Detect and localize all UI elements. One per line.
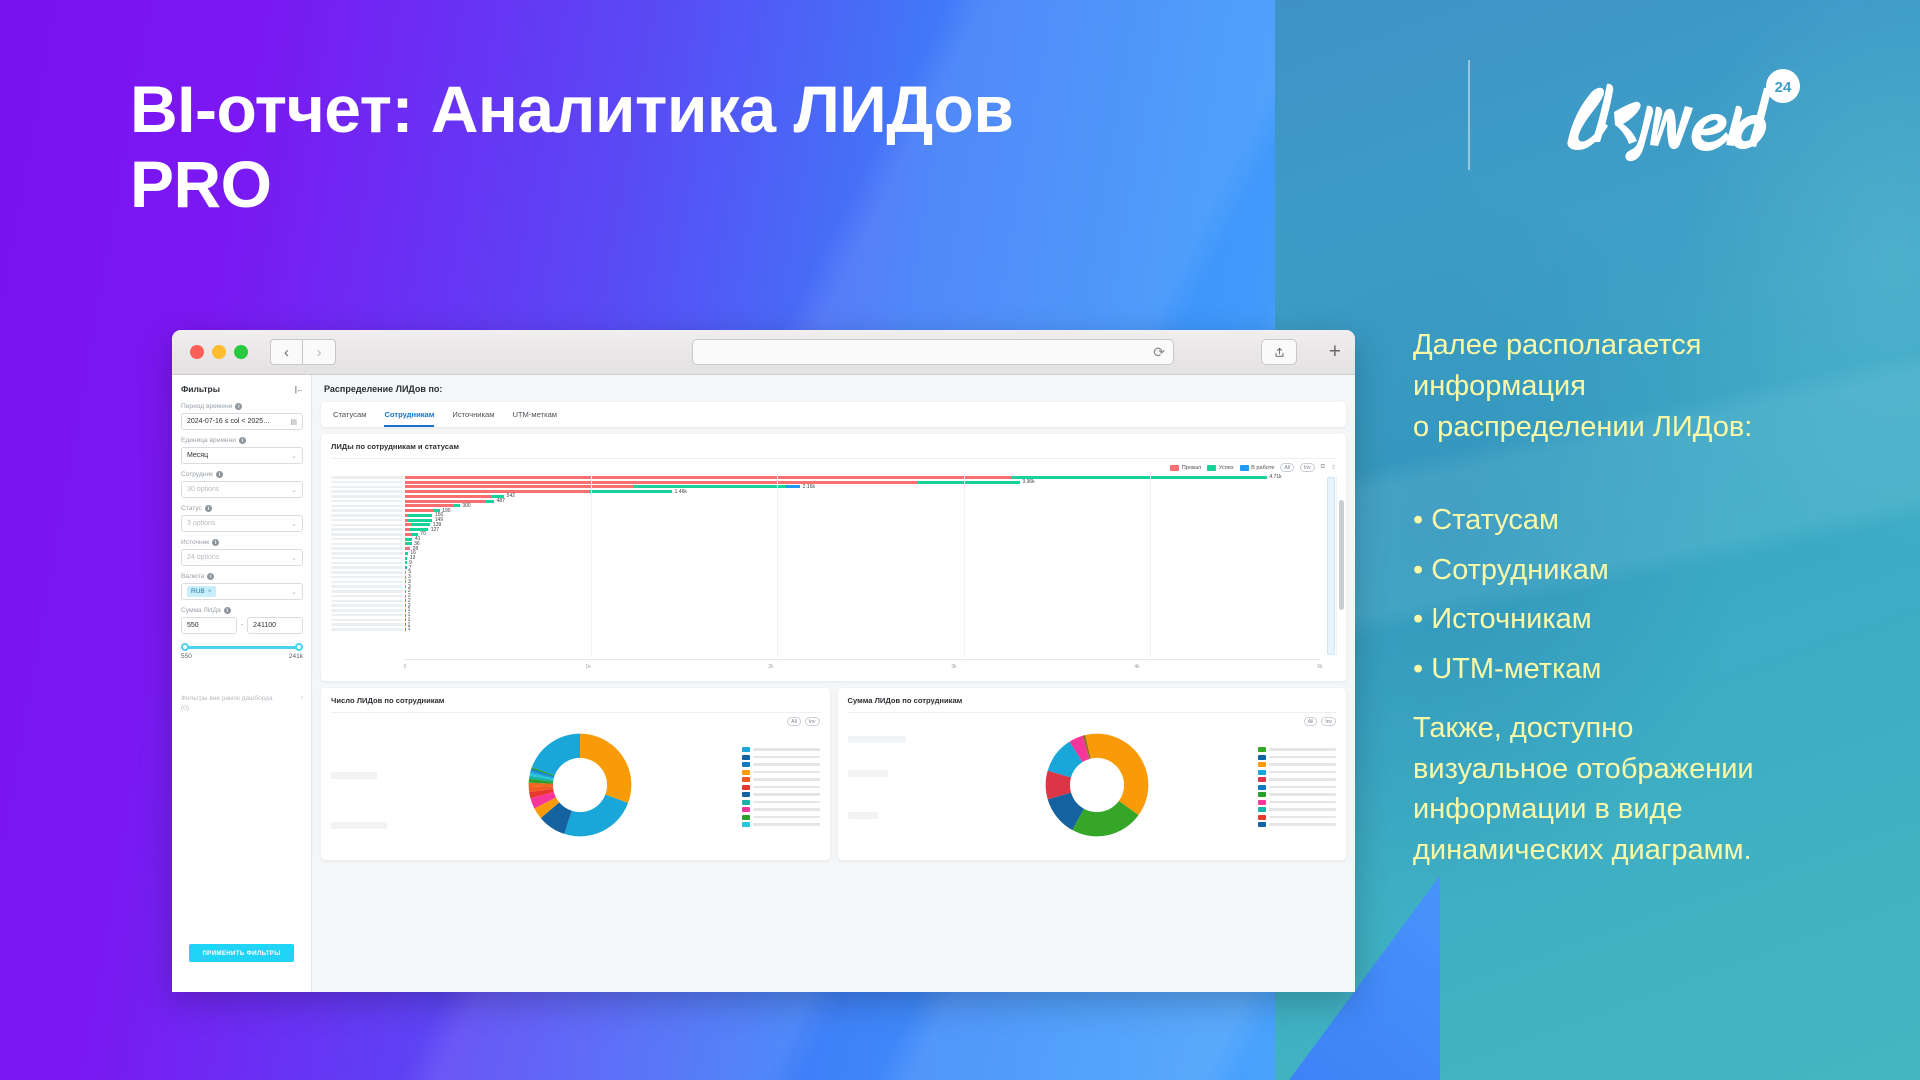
donut-sum-body — [848, 726, 1337, 844]
gridline — [591, 475, 592, 657]
donut-sum-graphic[interactable] — [936, 729, 1259, 841]
filter-label: Статус i — [181, 505, 303, 512]
donut-legend-label — [753, 786, 820, 789]
right-outro-text: Также, доступно визуальное отображении и… — [1413, 708, 1913, 870]
donut-legend-swatch — [1258, 807, 1266, 812]
bar-row-label — [331, 571, 403, 573]
time-unit-select[interactable]: Месяц ⌄ — [181, 447, 303, 464]
donut-legend-label — [753, 778, 820, 781]
sidebar-title: Фильтры — [181, 384, 220, 394]
donut-legend-item[interactable] — [742, 755, 820, 760]
donut-sum-title: Сумма ЛИДов по сотрудникам — [848, 696, 1337, 705]
donut-legend-item[interactable] — [742, 770, 820, 775]
donut-legend-swatch — [1258, 800, 1266, 805]
bullet-item: UTM-меткам — [1413, 649, 1913, 690]
donut-legend-swatch — [1258, 762, 1266, 767]
bar-row-label — [331, 519, 403, 521]
filter-group-amount: Сумма ЛИДа i 550 - 241100 550 — [181, 607, 303, 660]
bar-row-label — [331, 576, 403, 578]
range-separator: - — [241, 622, 243, 629]
bar-row-label — [331, 476, 403, 478]
info-icon[interactable]: i — [239, 437, 246, 444]
donut-count-callouts — [331, 726, 419, 844]
donut-legend-label — [753, 816, 820, 819]
filter-label-text: Единица времени — [181, 437, 236, 444]
donut-legend-swatch — [1258, 747, 1266, 752]
donut-sum-legend[interactable] — [1258, 743, 1336, 827]
donut-legend-item[interactable] — [742, 785, 820, 790]
minimize-window-icon[interactable] — [212, 345, 226, 359]
bar-row-label — [331, 623, 403, 625]
calendar-icon[interactable]: ▤ — [290, 418, 297, 426]
filter-group-time-unit: Единица времени i Месяц ⌄ — [181, 437, 303, 464]
right-bullet-list: Статусам Сотрудникам Источникам UTM-метк… — [1413, 500, 1913, 698]
gridline — [964, 475, 965, 657]
info-icon[interactable]: i — [212, 539, 219, 546]
reload-icon[interactable]: ⟳ — [1153, 344, 1165, 361]
donut-legend-label — [753, 801, 820, 804]
donut-card-count: Число ЛИДов по сотрудникам All Inv — [321, 688, 830, 860]
donut-legend-swatch — [1258, 755, 1266, 760]
donut-count-legend[interactable] — [742, 743, 820, 827]
donut-slice[interactable] — [1097, 734, 1148, 816]
donut-legend-swatch — [742, 777, 750, 782]
bar-row-label — [331, 562, 403, 564]
bar-row-label — [331, 609, 403, 611]
donut-legend-label — [1269, 786, 1336, 789]
bar-row-label — [331, 557, 403, 559]
slider-knob-max[interactable] — [295, 643, 303, 651]
donut-legend-label — [753, 748, 820, 751]
donut-slice[interactable] — [532, 734, 580, 776]
filter-label: Сотрудник i — [181, 471, 303, 478]
download-icon[interactable]: ⇪ — [1331, 464, 1336, 471]
donut-legend-item[interactable] — [742, 800, 820, 805]
gridline — [1150, 475, 1151, 657]
donut-legend-item[interactable] — [1258, 777, 1336, 782]
legend-item-fail[interactable]: Провал — [1170, 465, 1201, 471]
donut-legend-item[interactable] — [1258, 785, 1336, 790]
filter-label: Период времени i — [181, 403, 303, 410]
donut-legend-swatch — [1258, 822, 1266, 827]
info-icon[interactable]: i — [207, 573, 214, 580]
bar-row[interactable]: 1 — [331, 627, 1320, 632]
inv-toggle[interactable]: Inv — [1321, 717, 1336, 726]
slider-min-label: 550 — [181, 653, 192, 660]
tabs-card: Статусам Сотрудникам Источникам UTM-метк… — [321, 402, 1346, 427]
filter-label-text: Сотрудник — [181, 471, 213, 478]
x-axis-tick: 0 — [404, 664, 407, 670]
info-icon[interactable]: i — [224, 607, 231, 614]
main-content: Распределение ЛИДов по: Статусам Сотрудн… — [312, 375, 1355, 992]
window-controls[interactable] — [190, 345, 248, 359]
right-intro-text: Далее располагается информация о распред… — [1413, 325, 1913, 449]
back-button[interactable]: ‹ — [270, 339, 303, 365]
chevron-down-icon[interactable]: ⌄ — [291, 486, 297, 494]
donut-legend-swatch — [1258, 815, 1266, 820]
donut-legend-item[interactable] — [1258, 762, 1336, 767]
legend-label: Успех — [1219, 465, 1234, 471]
donut-legend-item[interactable] — [1258, 822, 1336, 827]
donut-legend-label — [1269, 801, 1336, 804]
bullet-item: Источникам — [1413, 599, 1913, 640]
filter-group-source: Источник i 24 options ⌄ — [181, 539, 303, 566]
all-toggle[interactable]: All — [1280, 463, 1294, 472]
address-bar[interactable]: ⟳ — [692, 339, 1174, 365]
amount-range-row: 550 - 241100 — [181, 617, 303, 634]
donut-legend-item[interactable] — [742, 815, 820, 820]
donut-legend-label — [753, 793, 820, 796]
bullet-item: Статусам — [1413, 500, 1913, 541]
donut-legend-item[interactable] — [1258, 807, 1336, 812]
bar-row-label — [331, 538, 403, 540]
svg-text:24: 24 — [1775, 79, 1792, 96]
donut-legend-swatch — [1258, 777, 1266, 782]
donut-slice[interactable] — [580, 734, 631, 803]
filter-label-text: Период времени — [181, 403, 232, 410]
donut-legend-label — [1269, 748, 1336, 751]
donut-legend-label — [1269, 756, 1336, 759]
bar-row-label — [331, 490, 403, 492]
all-toggle[interactable]: All — [787, 717, 801, 726]
donut-legend-label — [753, 823, 820, 826]
new-tab-button[interactable]: + — [1329, 340, 1341, 364]
donut-legend-swatch — [742, 822, 750, 827]
bar-row-label — [331, 486, 403, 488]
legend-label: В работе — [1251, 465, 1274, 471]
donut-legend-item[interactable] — [742, 747, 820, 752]
info-icon[interactable]: i — [216, 471, 223, 478]
donut-legend-item[interactable] — [742, 777, 820, 782]
donut-legend-swatch — [742, 785, 750, 790]
filter-label: Источник i — [181, 539, 303, 546]
share-button[interactable] — [1261, 339, 1297, 365]
bar-chart-plot: 4.71k3.36k2.16k1.46k54248730019015014913… — [331, 475, 1336, 675]
donut-legend-label — [1269, 823, 1336, 826]
currency-select[interactable]: RUB × ⌄ — [181, 583, 303, 600]
x-axis-tick: 1k — [585, 664, 590, 670]
donut-legend-label — [753, 756, 820, 759]
status-value: 3 options — [187, 520, 215, 527]
divider — [331, 458, 1336, 459]
donut-legend-item[interactable] — [1258, 792, 1336, 797]
legend-label: Провал — [1182, 465, 1202, 471]
filter-group-status: Статус i 3 options ⌄ — [181, 505, 303, 532]
donut-legend-label — [1269, 816, 1336, 819]
collapse-left-icon[interactable]: |← — [295, 385, 303, 394]
app-body: Фильтры |← Период времени i 2024-07-16 ≤… — [172, 375, 1355, 992]
page-title: BI-отчет: Аналитика ЛИДов PRO — [130, 72, 1090, 221]
bar-chart-legend: Провал Успех В работе All Inv ⧉ — [331, 463, 1336, 472]
logo-divider — [1468, 60, 1470, 170]
chevron-down-icon[interactable]: ⌄ — [291, 588, 297, 596]
donut-legend-item[interactable] — [1258, 747, 1336, 752]
info-icon[interactable]: i — [205, 505, 212, 512]
donut-sum-controls: All Inv — [848, 717, 1337, 726]
extra-filters-label: Фильтры вне рамок дашборда — [181, 695, 273, 702]
status-select[interactable]: 3 options ⌄ — [181, 515, 303, 532]
slider-track — [181, 646, 303, 649]
donut-legend-swatch — [1258, 792, 1266, 797]
x-axis-tick: 2k — [768, 664, 773, 670]
slide-root: BI-отчет: Аналитика ЛИДов PRO 24 Далее р… — [0, 0, 1920, 1080]
bar-row-label — [331, 552, 403, 554]
tab-sotrudnikam[interactable]: Сотрудникам — [384, 410, 434, 427]
maximize-window-icon[interactable] — [234, 345, 248, 359]
bar-value-label: 1 — [408, 626, 411, 632]
donut-legend-item[interactable] — [742, 807, 820, 812]
bar-row-label — [331, 604, 403, 606]
bar-row-label — [331, 585, 403, 587]
donut-legend-swatch — [742, 755, 750, 760]
donut-legend-swatch — [742, 792, 750, 797]
gridline — [777, 475, 778, 657]
donut-legend-item[interactable] — [1258, 755, 1336, 760]
tab-bar: Статусам Сотрудникам Источникам UTM-метк… — [321, 402, 1346, 427]
copy-icon[interactable]: ⧉ — [1321, 464, 1325, 471]
employee-select[interactable]: 30 options ⌄ — [181, 481, 303, 498]
divider — [848, 712, 1337, 713]
source-select[interactable]: 24 options ⌄ — [181, 549, 303, 566]
legend-swatch — [1207, 465, 1216, 471]
legend-item-win[interactable]: Успех — [1207, 465, 1233, 471]
extra-filters-row[interactable]: Фильтры вне рамок дашборда (0) › — [181, 694, 303, 714]
donut-legend-item[interactable] — [742, 822, 820, 827]
donut-charts-row: Число ЛИДов по сотрудникам All Inv — [321, 688, 1346, 860]
filter-label-text: Статус — [181, 505, 202, 512]
legend-swatch — [1240, 465, 1249, 471]
filter-group-period: Период времени i 2024-07-16 ≤ col < 2025… — [181, 403, 303, 430]
bar-row-label — [331, 528, 403, 530]
chevron-down-icon[interactable]: ⌄ — [291, 554, 297, 562]
donut-legend-label — [1269, 778, 1336, 781]
extra-filters-count: (0) — [181, 705, 189, 712]
bar-row-label — [331, 628, 403, 630]
chevron-down-icon[interactable]: ⌄ — [291, 520, 297, 528]
slider-max-label: 241k — [289, 653, 303, 660]
filters-sidebar: Фильтры |← Период времени i 2024-07-16 ≤… — [172, 375, 312, 992]
apply-filters-button[interactable]: ПРИМЕНИТЬ ФИЛЬТРЫ — [189, 944, 294, 962]
bar-rows-container: 4.71k3.36k2.16k1.46k54248730019015014913… — [331, 475, 1320, 657]
tab-istochnikam[interactable]: Источникам — [452, 410, 494, 427]
slider-labels: 550 241k — [181, 653, 303, 660]
bar-row-label — [331, 495, 403, 497]
x-axis-tick: 4k — [1134, 664, 1139, 670]
bar-row-label — [331, 581, 403, 583]
x-axis-tick: 3k — [951, 664, 956, 670]
donut-legend-label — [1269, 771, 1336, 774]
bar-row-label — [331, 590, 403, 592]
page-heading: Распределение ЛИДов по: — [324, 384, 1346, 394]
bar-row-label — [331, 547, 403, 549]
donut-legend-label — [1269, 808, 1336, 811]
donut-count-graphic[interactable] — [419, 729, 742, 841]
time-unit-value: Месяц — [187, 452, 208, 459]
donut-count-title: Число ЛИДов по сотрудникам — [331, 696, 820, 705]
x-axis-tick: 5k — [1317, 664, 1322, 670]
period-value: 2024-07-16 ≤ col < 2025… — [187, 418, 270, 425]
filter-label-text: Валюта — [181, 573, 204, 580]
browser-window: ‹ › ⟳ + Фильтры |← — [172, 330, 1355, 992]
donut-legend-swatch — [742, 762, 750, 767]
donut-legend-item[interactable] — [742, 762, 820, 767]
inv-toggle[interactable]: Inv — [805, 717, 820, 726]
amount-min-input[interactable]: 550 — [181, 617, 237, 634]
donut-legend-swatch — [742, 807, 750, 812]
bar-row-label — [331, 505, 403, 507]
filter-label: Единица времени i — [181, 437, 303, 444]
filter-label: Валюта i — [181, 573, 303, 580]
bar-row-label — [331, 619, 403, 621]
filter-label-text: Источник — [181, 539, 209, 546]
legend-item-work[interactable]: В работе — [1240, 465, 1275, 471]
divider — [331, 712, 820, 713]
bar-row-label — [331, 533, 403, 535]
chevron-down-icon[interactable]: ⌄ — [291, 452, 297, 460]
close-icon[interactable]: × — [208, 588, 212, 595]
donut-sum-callouts — [848, 726, 936, 844]
donut-legend-label — [1269, 763, 1336, 766]
source-value: 24 options — [187, 554, 219, 561]
bar-row-label — [331, 595, 403, 597]
donut-legend-item[interactable] — [1258, 800, 1336, 805]
donut-legend-label — [753, 771, 820, 774]
chevron-right-icon[interactable]: › — [301, 694, 303, 701]
donut-legend-item[interactable] — [1258, 815, 1336, 820]
tab-statusam[interactable]: Статусам — [333, 410, 366, 427]
donut-legend-swatch — [1258, 770, 1266, 775]
close-window-icon[interactable] — [190, 345, 204, 359]
info-icon[interactable]: i — [235, 403, 242, 410]
gridline — [1336, 475, 1337, 657]
donut-legend-item[interactable] — [1258, 770, 1336, 775]
all-toggle[interactable]: All — [1304, 717, 1318, 726]
bar-row-label — [331, 509, 403, 511]
bullet-item: Сотрудникам — [1413, 550, 1913, 591]
filter-group-currency: Валюта i RUB × ⌄ — [181, 573, 303, 600]
filter-group-employee: Сотрудник i 30 options ⌄ — [181, 471, 303, 498]
period-date-input[interactable]: 2024-07-16 ≤ col < 2025… ▤ — [181, 413, 303, 430]
donut-count-svg — [524, 729, 636, 841]
donut-slice[interactable] — [565, 794, 629, 836]
donut-legend-item[interactable] — [742, 792, 820, 797]
tab-utm-metkam[interactable]: UTM-меткам — [512, 410, 557, 427]
browser-chrome: ‹ › ⟳ + — [172, 330, 1355, 375]
bar-row-label — [331, 566, 403, 568]
bar-row-label — [331, 600, 403, 602]
filter-label: Сумма ЛИДа i — [181, 607, 303, 614]
sidebar-header: Фильтры |← — [181, 384, 303, 394]
amount-slider[interactable] — [181, 643, 303, 651]
donut-legend-label — [753, 808, 820, 811]
bar-row-track: 1 — [405, 626, 1320, 632]
x-axis: 01k2k3k4k5k — [405, 659, 1320, 675]
amount-max-input[interactable]: 241100 — [247, 617, 303, 634]
employee-value: 30 options — [187, 486, 219, 493]
donut-legend-swatch — [1258, 785, 1266, 790]
slider-knob-min[interactable] — [181, 643, 189, 651]
donut-legend-swatch — [742, 815, 750, 820]
legend-swatch — [1170, 465, 1179, 471]
chart-inner-scrollbar[interactable] — [1327, 477, 1335, 655]
currency-chip[interactable]: RUB × — [187, 586, 216, 597]
bar-row-label — [331, 543, 403, 545]
donut-sum-svg — [1041, 729, 1153, 841]
currency-chip-label: RUB — [191, 588, 205, 595]
bar-row-label — [331, 614, 403, 616]
donut-legend-swatch — [742, 747, 750, 752]
bar-row-label — [331, 500, 403, 502]
donut-legend-swatch — [742, 800, 750, 805]
donut-card-sum: Сумма ЛИДов по сотрудникам All Inv — [838, 688, 1347, 860]
donut-legend-label — [753, 763, 820, 766]
bar-row-label — [331, 524, 403, 526]
donut-legend-label — [1269, 793, 1336, 796]
forward-button[interactable]: › — [303, 339, 336, 365]
bar-chart-title: ЛИДы по сотрудникам и статусам — [331, 442, 1336, 451]
donut-count-body — [331, 726, 820, 844]
navigation-buttons[interactable]: ‹ › — [270, 339, 336, 365]
donut-legend-swatch — [742, 770, 750, 775]
donut-count-controls: All Inv — [331, 717, 820, 726]
inv-toggle[interactable]: Inv — [1300, 463, 1315, 472]
skyweb24-logo: 24 — [1552, 62, 1812, 172]
bar-row-label — [331, 514, 403, 516]
filter-label-text: Сумма ЛИДа — [181, 607, 221, 614]
bar-chart-card: ЛИДы по сотрудникам и статусам Провал Ус… — [321, 434, 1346, 681]
page-scrollbar[interactable] — [1339, 500, 1344, 610]
bar-row-label — [331, 481, 403, 483]
